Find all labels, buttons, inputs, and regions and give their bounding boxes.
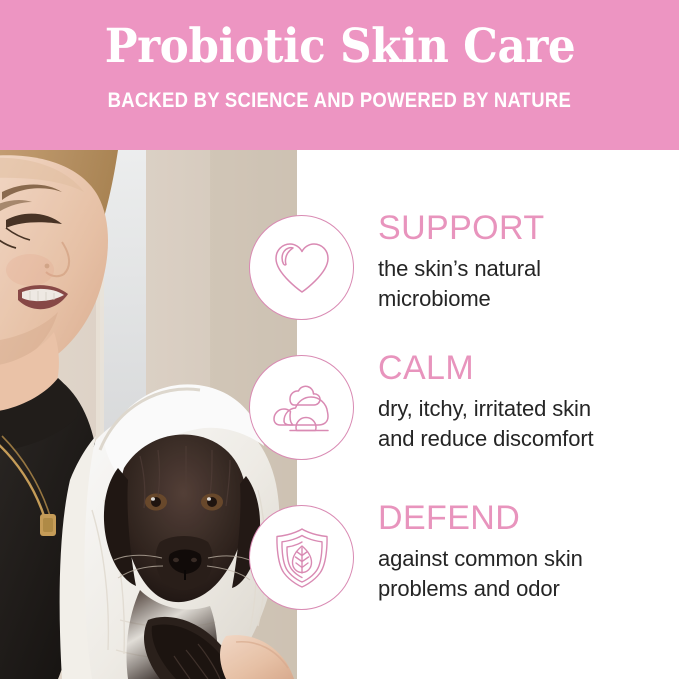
feature-heading: CALM xyxy=(378,348,673,388)
page-title: Probiotic Skin Care xyxy=(104,18,575,76)
feature-text-calm: CALM dry, itchy, irritated skin and redu… xyxy=(378,348,673,454)
product-infographic: Probiotic Skin Care BACKED BY SCIENCE AN… xyxy=(0,0,679,679)
feature-text-support: SUPPORT the skin’s natural microbiome xyxy=(378,208,673,314)
feature-body: against common skin problems and odor xyxy=(378,544,673,604)
page-subtitle: BACKED BY SCIENCE AND POWERED BY NATURE xyxy=(108,88,571,114)
shield-leaf-icon xyxy=(249,505,354,610)
feature-text-defend: DEFEND against common skin problems and … xyxy=(378,498,673,604)
feature-item-defend: DEFEND against common skin problems and … xyxy=(0,498,679,648)
feature-list: SUPPORT the skin’s natural microbiome CA… xyxy=(0,150,679,679)
heart-icon xyxy=(249,215,354,320)
feature-item-calm: CALM dry, itchy, irritated skin and redu… xyxy=(0,348,679,498)
clouds-icon xyxy=(249,355,354,460)
header-banner: Probiotic Skin Care BACKED BY SCIENCE AN… xyxy=(0,0,679,150)
feature-heading: DEFEND xyxy=(378,498,673,538)
feature-body: the skin’s natural microbiome xyxy=(378,254,673,314)
feature-item-support: SUPPORT the skin’s natural microbiome xyxy=(0,208,679,358)
feature-heading: SUPPORT xyxy=(378,208,673,248)
feature-body: dry, itchy, irritated skin and reduce di… xyxy=(378,394,673,454)
